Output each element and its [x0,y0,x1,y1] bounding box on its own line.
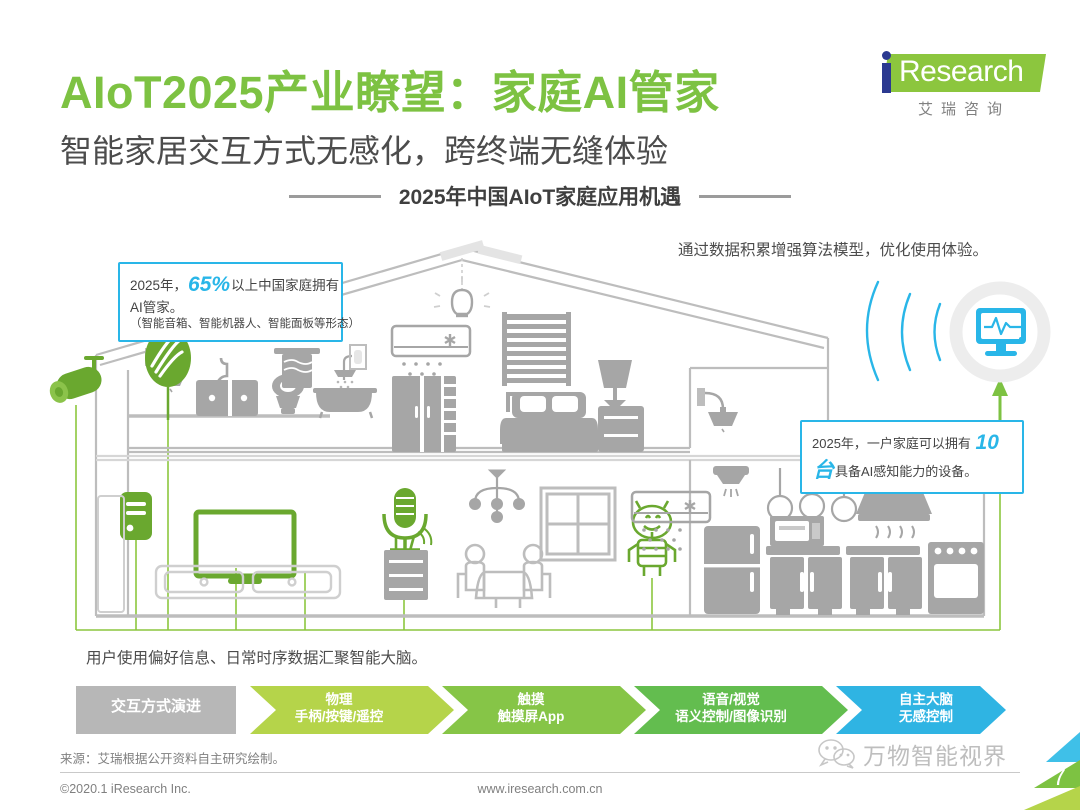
flow-step-1-shape [250,686,454,734]
footer-divider [60,772,1020,773]
callout1-line1-post: 以上中国家庭拥有 [231,278,339,293]
flow-step-2-shape [442,686,646,734]
callout2-line1-pre: 2025年，一户家庭可以拥有 [812,436,975,451]
logo-i-dot [882,51,891,60]
page-corner-decoration [994,732,1080,810]
iresearch-logo: Research 艾瑞咨询 [859,50,1044,122]
callout-ai-butler: 2025年，65%以上中国家庭拥有 AI管家。 （智能音箱、智能机器人、智能面板… [118,262,343,342]
callout2-unit: 台 [812,459,835,482]
band-title: 2025年中国AIoT家庭应用机遇 [399,181,681,211]
page-title: AIoT2025产业瞭望：家庭AI管家 [60,56,720,121]
callout2-highlight: 10 [975,431,1000,454]
website-url: www.iresearch.com.cn [0,782,1080,796]
band-rule-right [699,195,791,198]
callout1-line1-pre: 2025年， [130,278,187,293]
source-note: 来源：艾瑞根据公开资料自主研究绘制。 [60,748,285,767]
callout-devices: 2025年，一户家庭可以拥有 10 台具备AI感知能力的设备。 [800,420,1024,494]
page-subtitle: 智能家居交互方式无感化，跨终端无缝体验 [60,126,668,172]
logo-mark: Research [859,50,1044,94]
page-number: 7 [1053,764,1066,792]
flow-step-4-shape [836,686,1006,734]
watermark: 万物智能视界 [818,737,1007,771]
section-band: 2025年中国AIoT家庭应用机遇 [0,180,1080,212]
callout1-line2: AI管家。 [130,299,331,317]
flow-step-0-shape [76,686,236,734]
callout1-line3: （智能音箱、智能机器人、智能面板等形态） [130,317,331,332]
logo-i-stem [882,63,891,93]
logo-wordmark: Research [899,55,1023,89]
flow-step-3-shape [634,686,848,734]
logo-chinese-name: 艾瑞咨询 [889,98,1039,119]
wechat-icon [818,739,856,769]
band-rule-left [289,195,381,198]
annotation-top-right: 通过数据积累增强算法模型，优化使用体验。 [678,238,988,260]
callout2-line2-post: 具备AI感知能力的设备。 [835,464,977,479]
watermark-text: 万物智能视界 [863,737,1007,771]
interaction-evolution-flow: 交互方式演进 物理 手柄/按键/遥控 触摸 触摸屏App 语音/视觉 语义控制/… [76,686,1006,734]
slide-root: AIoT2025产业瞭望：家庭AI管家 智能家居交互方式无感化，跨终端无缝体验 … [0,0,1080,810]
annotation-bottom: 用户使用偏好信息、日常时序数据汇聚智能大脑。 [86,646,427,668]
callout1-highlight: 65% [187,273,231,296]
